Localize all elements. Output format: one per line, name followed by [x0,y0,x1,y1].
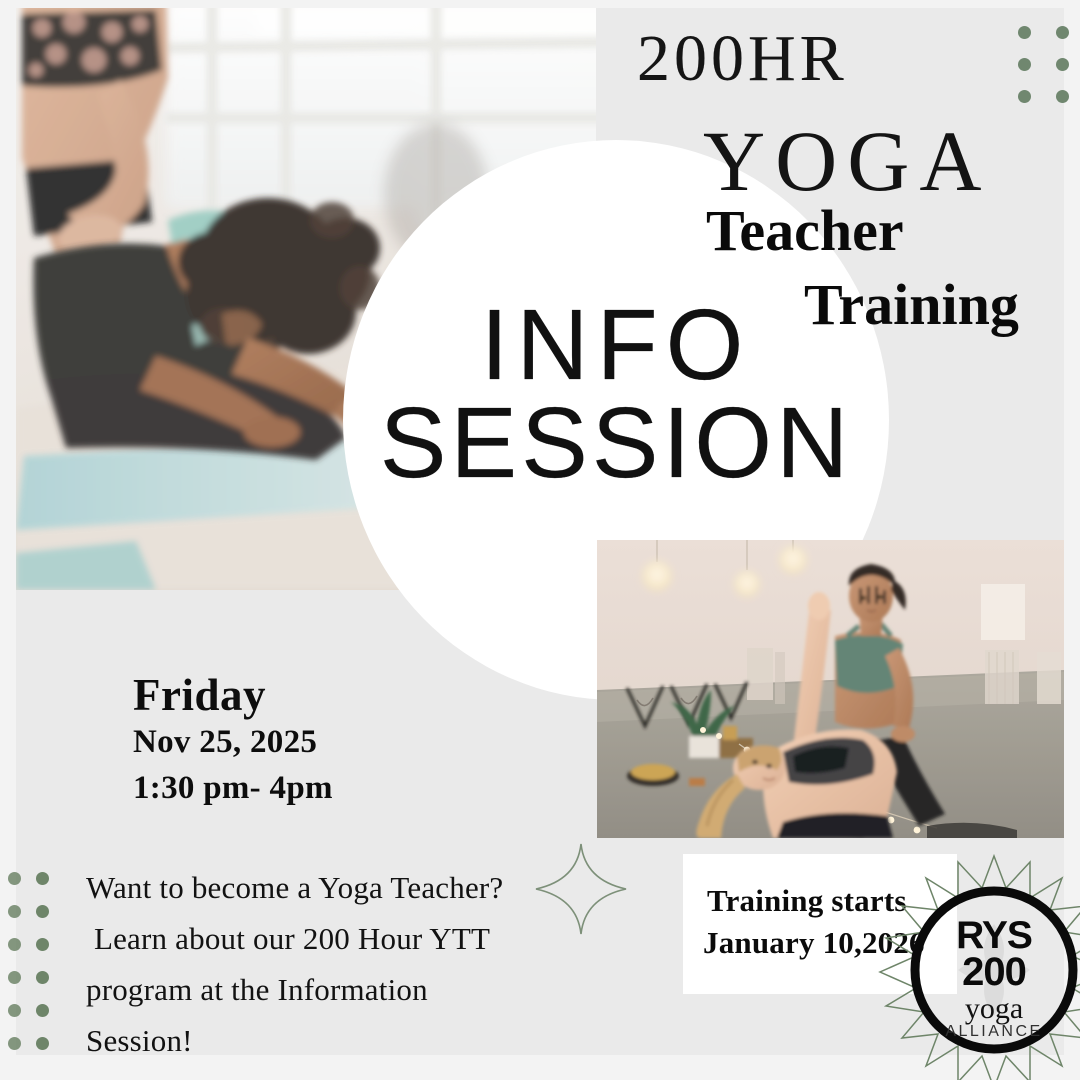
dot-grid-icon [1018,26,1080,118]
event-day: Friday [133,672,333,719]
training-start-label: Training starts [707,882,907,919]
bullet-dots-column [36,872,56,1062]
body-copy-line-4: Session! [86,1015,606,1066]
four-point-sparkle-icon [534,842,628,936]
body-copy-line-3: program at the Information [86,964,606,1015]
body-copy: Want to become a Yoga Teacher? Learn abo… [86,862,606,1066]
headline-hours: 200HR [637,26,848,92]
event-time: 1:30 pm- 4pm [133,765,333,811]
headline-yoga: YOGA [703,118,991,204]
training-start-date: January 10,2026 [703,924,925,961]
event-date-block: Friday Nov 25, 2025 1:30 pm- 4pm [133,672,333,812]
body-copy-line-1: Want to become a Yoga Teacher? [86,862,606,913]
body-copy-line-2: Learn about our 200 Hour YTT [86,913,606,964]
event-date: Nov 25, 2025 [133,719,333,765]
headline-training: Training [804,276,1019,334]
rys-200-yoga-alliance-badge: RYS 200 yoga ALLIANCE [896,872,1080,1068]
poster-canvas: 200HR YOGA Teacher Training INFO SESSION… [0,0,1080,1080]
headline-block: 200HR YOGA Teacher Training [600,14,1040,334]
headline-teacher: Teacher [706,202,904,260]
bullet-dots-edge [8,872,18,1062]
photo-bottom-right-pair-pose [597,540,1064,838]
